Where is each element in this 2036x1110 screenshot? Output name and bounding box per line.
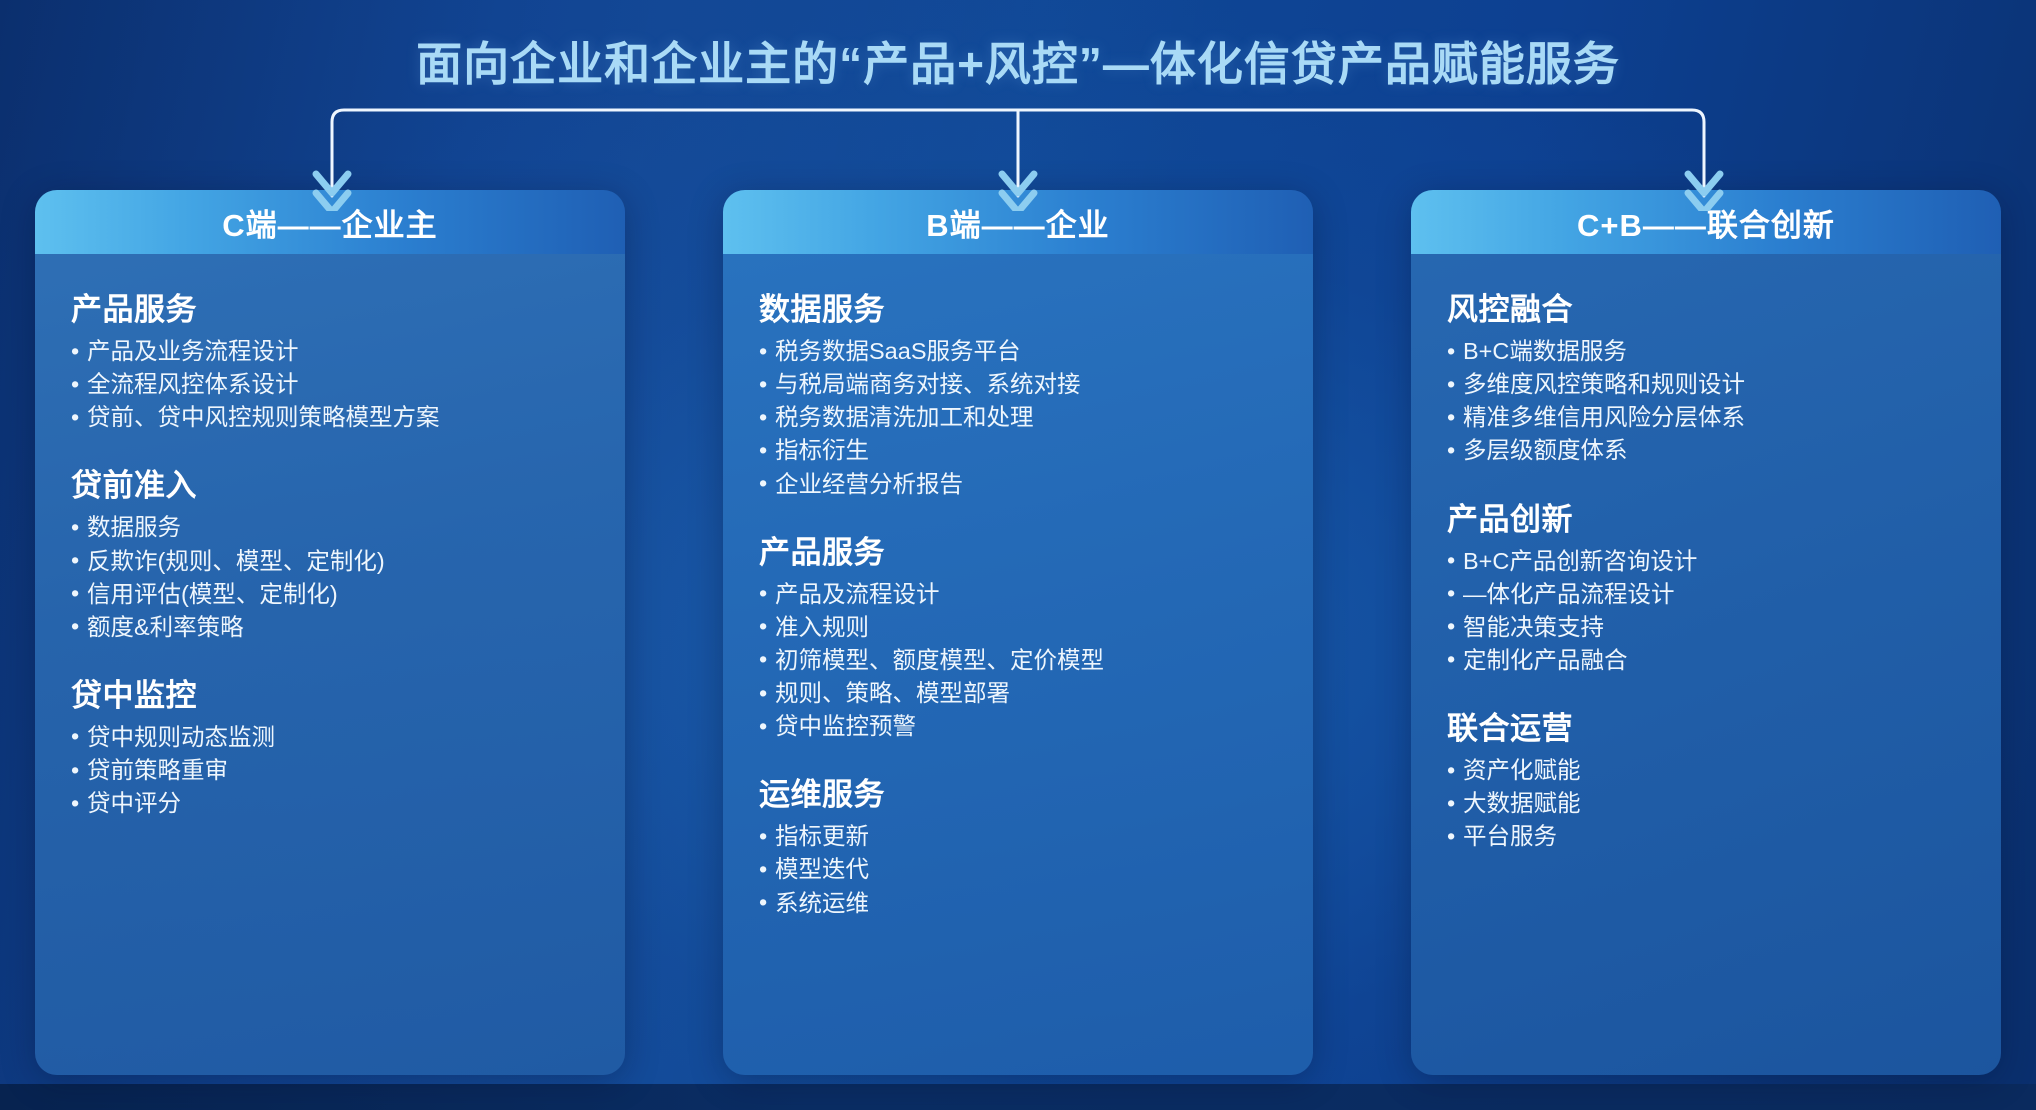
list-item: 指标更新 xyxy=(759,820,1277,853)
section: 产品服务 产品及流程设计 准入规则 初筛模型、额度模型、定价模型 规则、策略、模… xyxy=(723,527,1313,744)
column-body-c-end: 产品服务 产品及业务流程设计 全流程风控体系设计 贷前、贷中风控规则策略模型方案… xyxy=(35,254,625,1075)
section-title: 贷前准入 xyxy=(71,460,589,505)
section: 风控融合 B+C端数据服务 多维度风控策略和规则设计 精准多维信用风险分层体系 … xyxy=(1411,284,2001,468)
section-title: 联合运营 xyxy=(1447,703,1965,748)
list-item: 精准多维信用风险分层体系 xyxy=(1447,401,1965,434)
bullet-list: 贷中规则动态监测 贷前策略重审 贷中评分 xyxy=(71,721,589,820)
bullet-list: 指标更新 模型迭代 系统运维 xyxy=(759,820,1277,919)
bullet-list: 数据服务 反欺诈(规则、模型、定制化) 信用评估(模型、定制化) 额度&利率策略 xyxy=(71,511,589,644)
bullet-list: 税务数据SaaS服务平台 与税局端商务对接、系统对接 税务数据清洗加工和处理 指… xyxy=(759,335,1277,501)
bullet-list: B+C产品创新咨询设计 —体化产品流程设计 智能决策支持 定制化产品融合 xyxy=(1447,545,1965,678)
list-item: 产品及业务流程设计 xyxy=(71,335,589,368)
section: 数据服务 税务数据SaaS服务平台 与税局端商务对接、系统对接 税务数据清洗加工… xyxy=(723,284,1313,501)
list-item: 税务数据SaaS服务平台 xyxy=(759,335,1277,368)
bracket-connector xyxy=(0,96,2036,211)
column-card-c-end[interactable]: C端——企业主 产品服务 产品及业务流程设计 全流程风控体系设计 贷前、贷中风控… xyxy=(35,190,625,1075)
bottom-strip xyxy=(0,1084,2036,1110)
list-item: B+C端数据服务 xyxy=(1447,335,1965,368)
list-item: 与税局端商务对接、系统对接 xyxy=(759,368,1277,401)
columns-container: C端——企业主 产品服务 产品及业务流程设计 全流程风控体系设计 贷前、贷中风控… xyxy=(0,190,2036,1075)
list-item: —体化产品流程设计 xyxy=(1447,578,1965,611)
bullet-list: 资产化赋能 大数据赋能 平台服务 xyxy=(1447,754,1965,853)
section-title: 产品服务 xyxy=(71,284,589,329)
list-item: 税务数据清洗加工和处理 xyxy=(759,401,1277,434)
list-item: 反欺诈(规则、模型、定制化) xyxy=(71,545,589,578)
list-item: 指标衍生 xyxy=(759,434,1277,467)
list-item: 信用评估(模型、定制化) xyxy=(71,578,589,611)
bullet-list: 产品及业务流程设计 全流程风控体系设计 贷前、贷中风控规则策略模型方案 xyxy=(71,335,589,434)
list-item: 初筛模型、额度模型、定价模型 xyxy=(759,644,1277,677)
bullet-list: B+C端数据服务 多维度风控策略和规则设计 精准多维信用风险分层体系 多层级额度… xyxy=(1447,335,1965,468)
list-item: 额度&利率策略 xyxy=(71,611,589,644)
list-item: 多维度风控策略和规则设计 xyxy=(1447,368,1965,401)
section-title: 风控融合 xyxy=(1447,284,1965,329)
list-item: 贷中评分 xyxy=(71,787,589,820)
list-item: 智能决策支持 xyxy=(1447,611,1965,644)
list-item: 模型迭代 xyxy=(759,853,1277,886)
section: 产品创新 B+C产品创新咨询设计 —体化产品流程设计 智能决策支持 定制化产品融… xyxy=(1411,494,2001,678)
list-item: 准入规则 xyxy=(759,611,1277,644)
list-item: 贷中监控预警 xyxy=(759,710,1277,743)
section: 产品服务 产品及业务流程设计 全流程风控体系设计 贷前、贷中风控规则策略模型方案 xyxy=(35,284,625,434)
page-title: 面向企业和企业主的“产品+风控”—体化信贷产品赋能服务 xyxy=(0,28,2036,94)
section-title: 数据服务 xyxy=(759,284,1277,329)
section: 贷中监控 贷中规则动态监测 贷前策略重审 贷中评分 xyxy=(35,670,625,820)
section-title: 贷中监控 xyxy=(71,670,589,715)
list-item: 企业经营分析报告 xyxy=(759,468,1277,501)
list-item: 贷前、贷中风控规则策略模型方案 xyxy=(71,401,589,434)
list-item: 系统运维 xyxy=(759,887,1277,920)
list-item: 产品及流程设计 xyxy=(759,578,1277,611)
column-card-b-end[interactable]: B端——企业 数据服务 税务数据SaaS服务平台 与税局端商务对接、系统对接 税… xyxy=(723,190,1313,1075)
list-item: 资产化赋能 xyxy=(1447,754,1965,787)
column-body-c-plus-b: 风控融合 B+C端数据服务 多维度风控策略和规则设计 精准多维信用风险分层体系 … xyxy=(1411,254,2001,1075)
section-title: 产品服务 xyxy=(759,527,1277,572)
list-item: 数据服务 xyxy=(71,511,589,544)
section: 运维服务 指标更新 模型迭代 系统运维 xyxy=(723,769,1313,919)
list-item: B+C产品创新咨询设计 xyxy=(1447,545,1965,578)
list-item: 多层级额度体系 xyxy=(1447,434,1965,467)
list-item: 全流程风控体系设计 xyxy=(71,368,589,401)
column-body-b-end: 数据服务 税务数据SaaS服务平台 与税局端商务对接、系统对接 税务数据清洗加工… xyxy=(723,254,1313,1075)
section: 联合运营 资产化赋能 大数据赋能 平台服务 xyxy=(1411,703,2001,853)
list-item: 规则、策略、模型部署 xyxy=(759,677,1277,710)
list-item: 定制化产品融合 xyxy=(1447,644,1965,677)
section: 贷前准入 数据服务 反欺诈(规则、模型、定制化) 信用评估(模型、定制化) 额度… xyxy=(35,460,625,644)
section-title: 产品创新 xyxy=(1447,494,1965,539)
list-item: 贷前策略重审 xyxy=(71,754,589,787)
column-card-c-plus-b[interactable]: C+B——联合创新 风控融合 B+C端数据服务 多维度风控策略和规则设计 精准多… xyxy=(1411,190,2001,1075)
list-item: 平台服务 xyxy=(1447,820,1965,853)
section-title: 运维服务 xyxy=(759,769,1277,814)
bullet-list: 产品及流程设计 准入规则 初筛模型、额度模型、定价模型 规则、策略、模型部署 贷… xyxy=(759,578,1277,744)
list-item: 贷中规则动态监测 xyxy=(71,721,589,754)
list-item: 大数据赋能 xyxy=(1447,787,1965,820)
